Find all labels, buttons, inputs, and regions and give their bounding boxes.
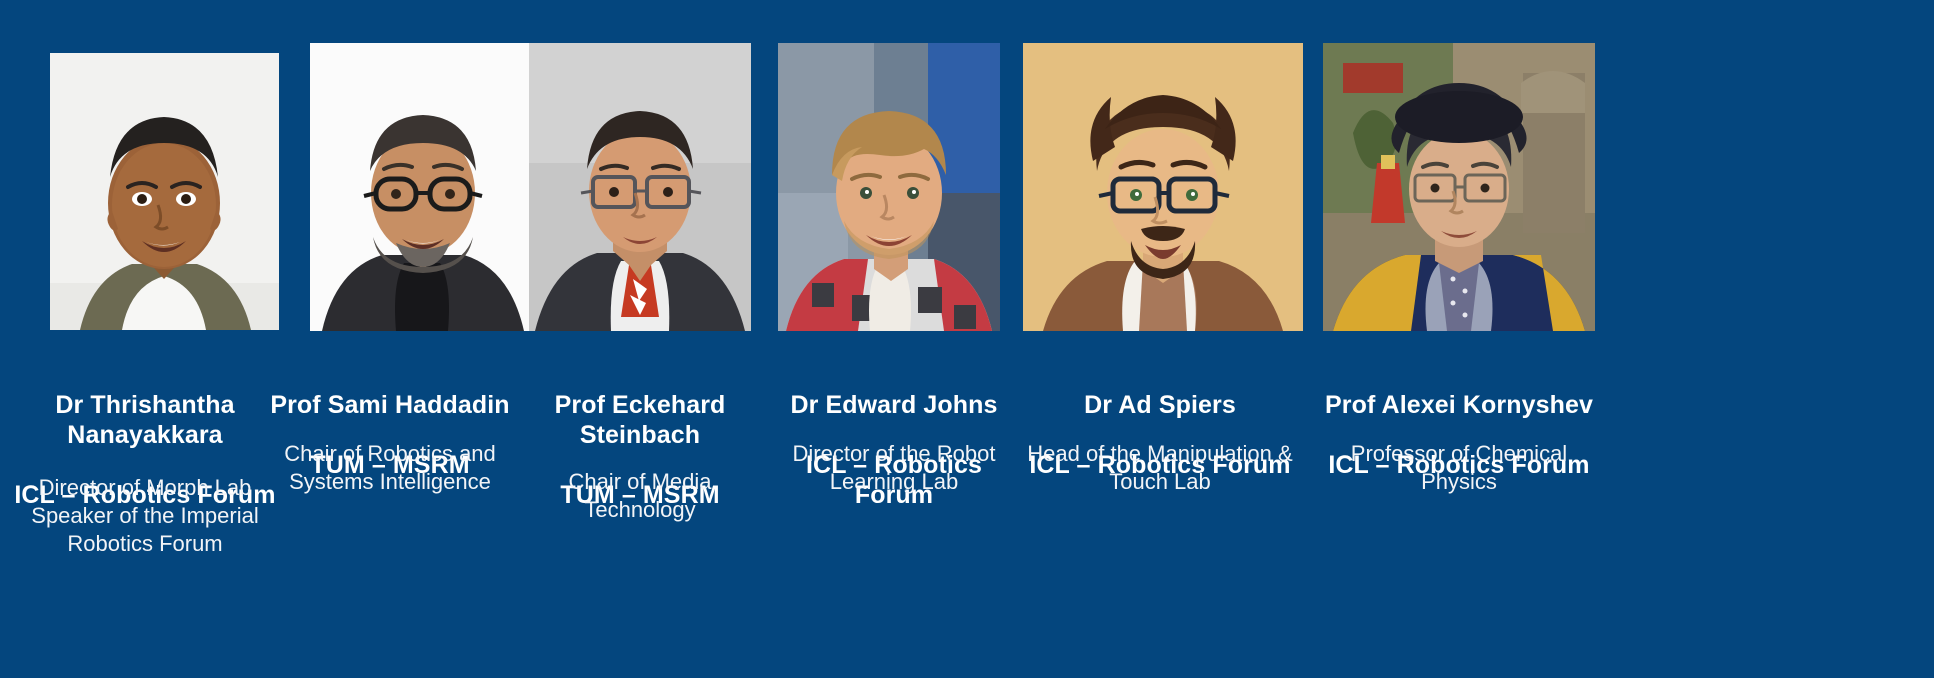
speaker-role: Chair of Media Technology [515,468,765,524]
speaker-name: Dr Thrishantha Nanayakkara [55,391,234,449]
speaker-photo-frame [1323,43,1595,331]
speaker-photo-frame [778,43,1000,331]
speakers-panel: Dr Thrishantha Nanayakkara ICL – Robotic… [0,0,1934,678]
portrait-ad-spiers [1023,43,1303,331]
speaker-card-edward-johns[interactable]: Dr Edward Johns ICL – Robotics Forum Dir… [765,0,1023,678]
speaker-role: Director of the Robot Learning Lab [765,440,1023,496]
speaker-card-ad-spiers[interactable]: Dr Ad Spiers ICL – Robotics Forum Head o… [1023,0,1297,678]
speaker-photo-frame [529,43,751,331]
speaker-name: Prof Alexei Kornyshev [1325,391,1593,419]
speaker-card-thrishantha-nanayakkara[interactable]: Dr Thrishantha Nanayakkara ICL – Robotic… [0,0,290,678]
speaker-card-sami-haddadin[interactable]: Prof Sami Haddadin TUM – MSRM Chair of R… [265,0,515,678]
speaker-name: Prof Eckehard Steinbach [555,391,726,449]
speaker-role: Head of the Manipulation & Touch Lab [1023,440,1297,496]
portrait-thrishantha-nanayakkara [50,53,279,330]
portrait-eckehard-steinbach [529,43,751,331]
portrait-alexei-kornyshev [1323,43,1595,331]
speaker-photo-frame [310,43,535,331]
speaker-card-alexei-kornyshev[interactable]: Prof Alexei Kornyshev ICL – Robotics For… [1297,0,1934,678]
speaker-name: Dr Edward Johns [790,391,997,419]
speaker-role: Professor of Chemical Physics [1297,440,1621,496]
speaker-photo-frame [50,53,279,330]
portrait-sami-haddadin [310,43,535,331]
portrait-edward-johns [778,43,1000,331]
speaker-role: Director of Morph Lab Speaker of the Imp… [0,474,290,558]
speaker-name: Prof Sami Haddadin [270,391,509,419]
speaker-name: Dr Ad Spiers [1084,391,1236,419]
speaker-photo-frame [1023,43,1303,331]
speaker-role: Chair of Robotics and Systems Intelligen… [265,440,515,496]
speaker-card-eckehard-steinbach[interactable]: Prof Eckehard Steinbach TUM – MSRM Chair… [515,0,765,678]
